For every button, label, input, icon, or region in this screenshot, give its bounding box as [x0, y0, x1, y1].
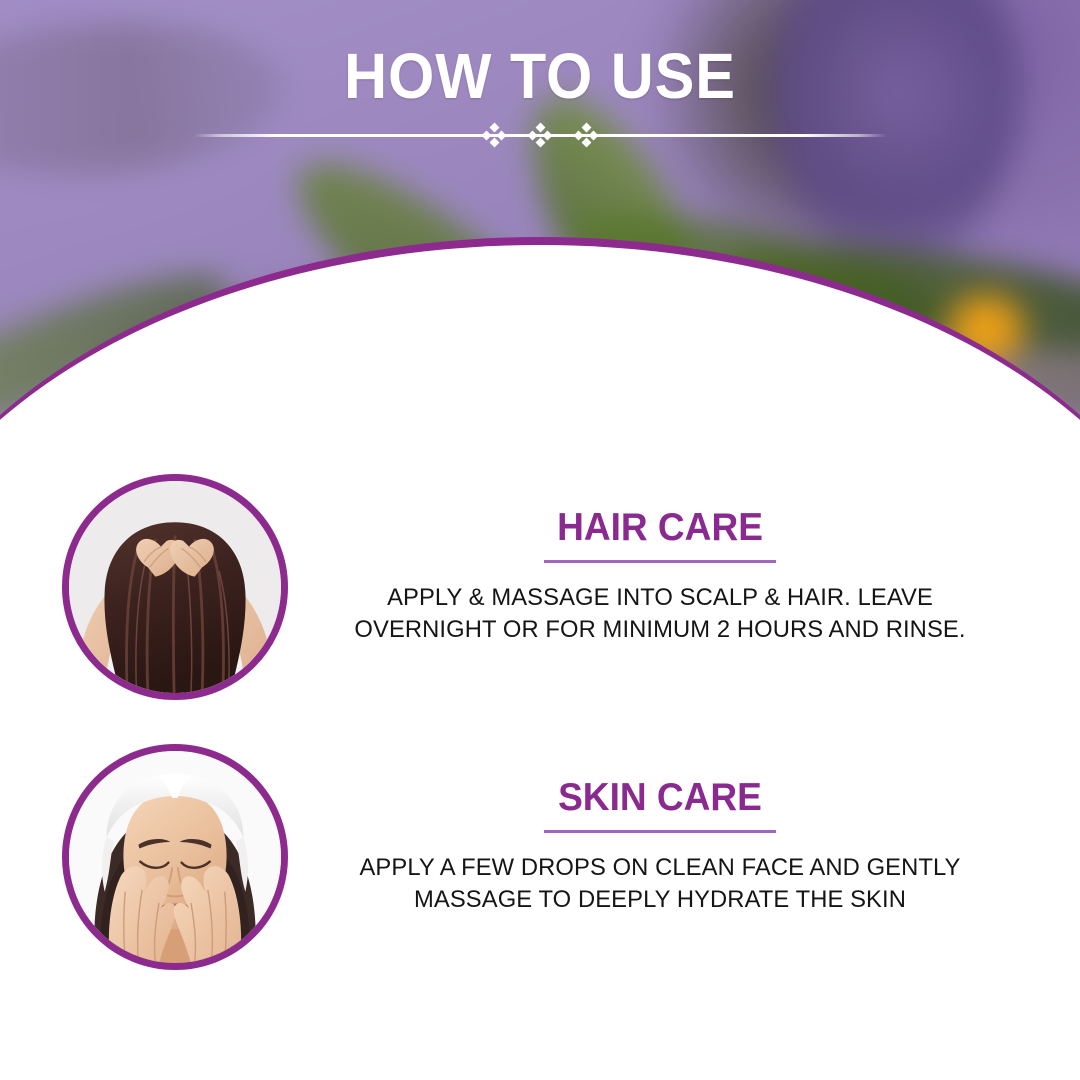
ornamental-divider — [193, 128, 887, 142]
diamond-ornament-icon — [575, 124, 597, 146]
how-to-use-poster: HOW TO USE — [0, 0, 1080, 1080]
section-title-skin-care: SKIN CARE — [347, 778, 974, 817]
diamond-ornament-icon — [529, 124, 551, 146]
skin-care-copy: SKIN CARE APPLY A FEW DROPS ON CLEAN FAC… — [330, 778, 990, 916]
section-hair-care: HAIR CARE APPLY & MASSAGE INTO SCALP & H… — [0, 470, 1080, 700]
hair-care-copy: HAIR CARE APPLY & MASSAGE INTO SCALP & H… — [330, 508, 990, 646]
page-title: HOW TO USE — [38, 44, 1042, 108]
section-body-skin-care: APPLY A FEW DROPS ON CLEAN FACE AND GENT… — [340, 852, 980, 916]
woman-massaging-face-photo — [62, 744, 288, 970]
section-skin-care: SKIN CARE APPLY A FEW DROPS ON CLEAN FAC… — [0, 740, 1080, 970]
section-title-underline — [544, 830, 776, 833]
section-body-hair-care: APPLY & MASSAGE INTO SCALP & HAIR. LEAVE… — [340, 582, 980, 646]
section-title-underline — [544, 560, 776, 563]
section-title-hair-care: HAIR CARE — [347, 508, 974, 547]
woman-massaging-scalp-photo — [62, 474, 288, 700]
diamond-ornament-icon — [483, 124, 505, 146]
poster-header: HOW TO USE — [0, 0, 1080, 240]
